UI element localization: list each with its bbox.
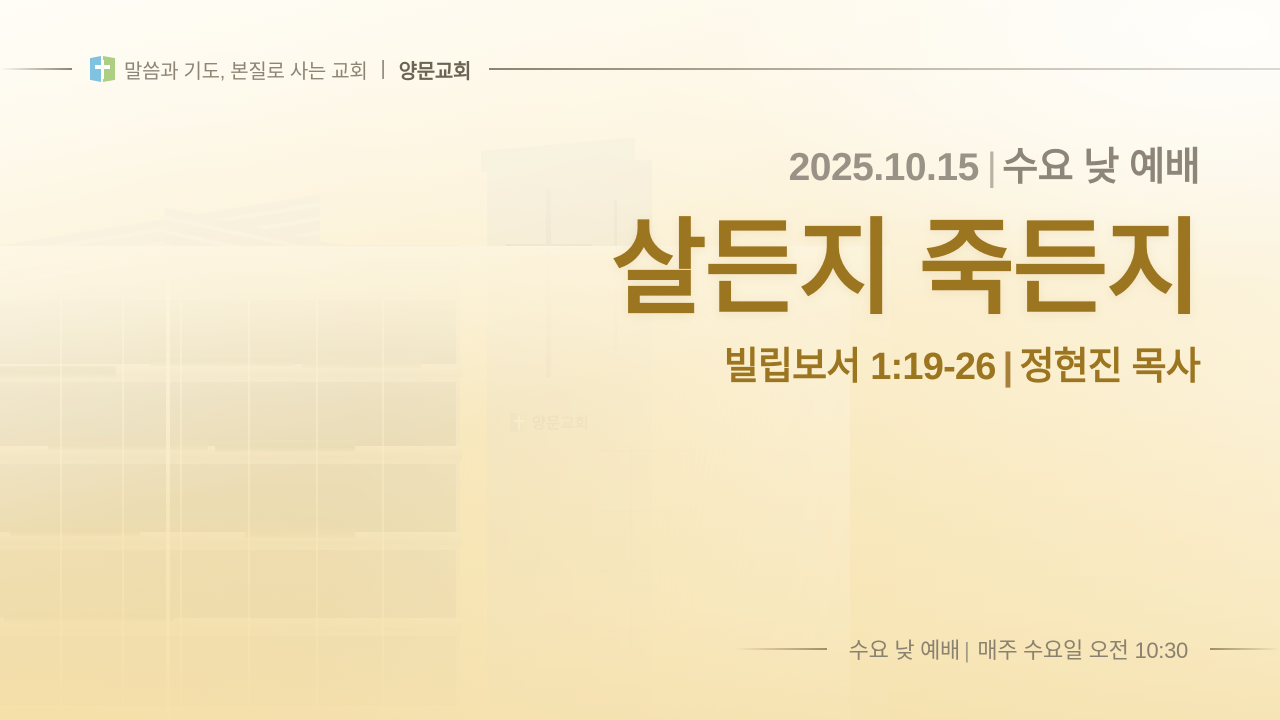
footer-bar: 수요 낮 예배|매주 수요일 오전 10:30 xyxy=(0,634,1280,664)
sermon-title-card: 양문교회 말씀과 기도, 본질로 사는 교회 | 양문교회 xyxy=(0,0,1280,720)
open-door-cross-logo-icon xyxy=(90,55,115,83)
speaker-name: 정현진 목사 xyxy=(1019,346,1200,388)
scripture-line: 빌립보서 1:19-26|정현진 목사 xyxy=(480,347,1200,389)
service-name: 수요 낮 예배 xyxy=(1002,146,1200,189)
footer-service-name: 수요 낮 예배 xyxy=(849,638,960,663)
footer-separator: | xyxy=(964,638,969,663)
footer-text: 수요 낮 예배|매주 수요일 오전 10:30 xyxy=(849,633,1188,665)
header-church-name: 양문교회 xyxy=(399,55,471,84)
service-eyebrow: 2025.10.15|수요 낮 예배 xyxy=(480,148,1200,189)
scripture-reference: 빌립보서 1:19-26 xyxy=(724,346,996,388)
header-brand: 말씀과 기도, 본질로 사는 교회 | 양문교회 xyxy=(90,55,471,84)
scripture-separator: | xyxy=(1003,346,1013,388)
footer-rule-right xyxy=(1210,648,1280,650)
service-date: 2025.10.15 xyxy=(789,146,979,189)
footer-rule-left xyxy=(735,648,827,650)
header-tagline: 말씀과 기도, 본질로 사는 교회 xyxy=(124,55,367,84)
sermon-title: 살든지 죽든지 xyxy=(480,211,1200,327)
eyebrow-separator: | xyxy=(987,146,997,189)
header-rule-right xyxy=(489,68,1280,70)
main-content: 2025.10.15|수요 낮 예배 살든지 죽든지 빌립보서 1:19-26|… xyxy=(480,148,1200,389)
header-rule-left xyxy=(0,68,72,70)
header-bar: 말씀과 기도, 본질로 사는 교회 | 양문교회 xyxy=(0,54,1280,84)
header-separator: | xyxy=(380,58,385,81)
footer-schedule: 매주 수요일 오전 10:30 xyxy=(977,638,1188,663)
